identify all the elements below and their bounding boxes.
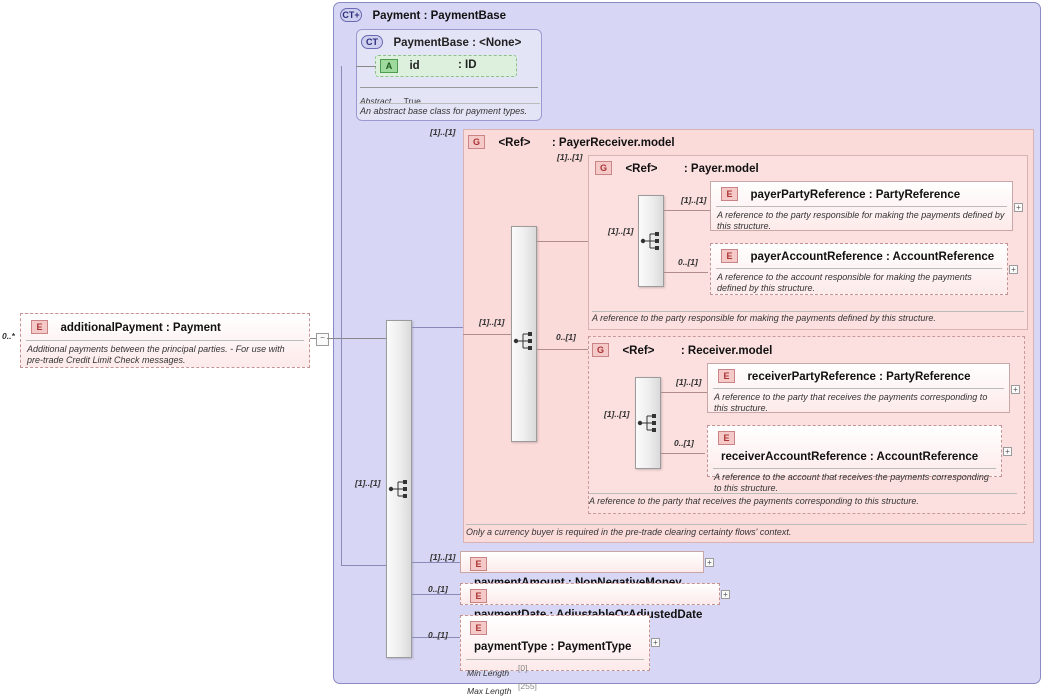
group-ref-label: <Ref> — [622, 345, 654, 357]
facet-key: Max Length — [467, 686, 511, 696]
receiver-group-doc: A reference to the party that receives t… — [589, 496, 1021, 507]
element-title: payerAccountReference : AccountReference — [750, 251, 994, 263]
element-icon: E — [718, 369, 735, 383]
element-paymentamount[interactable]: E paymentAmount : NonNegativeMoney — [460, 551, 704, 573]
attribute-id-box[interactable]: A id : ID — [375, 55, 517, 77]
sequence-icon — [388, 479, 412, 499]
element-receiverpartyreference[interactable]: E receiverPartyReference : PartyReferenc… — [707, 363, 1010, 413]
element-doc: A reference to the party responsible for… — [717, 210, 1006, 232]
connector — [664, 272, 708, 273]
connector — [537, 241, 588, 242]
multiplicity-label: [1]..[1] — [604, 409, 630, 419]
multiplicity-label: 0..[1] — [428, 584, 448, 594]
element-icon: E — [721, 187, 738, 201]
group-icon: G — [592, 343, 609, 357]
multiplicity-label: [1]..[1] — [676, 377, 702, 387]
root-type-title: Payment : PaymentBase — [372, 10, 506, 22]
element-icon: E — [721, 249, 738, 263]
group-title: : Receiver.model — [681, 345, 772, 357]
facet-value: [0] — [518, 663, 527, 673]
multiplicity-label: [1]..[1] — [355, 478, 381, 488]
multiplicity-label: [1]..[1] — [681, 195, 707, 205]
payerreceiver-group-doc: Only a currency buyer is required in the… — [466, 527, 1031, 538]
connector — [412, 562, 460, 563]
sequence-icon — [513, 331, 537, 351]
divider — [466, 524, 1027, 525]
expand-button[interactable]: + — [1014, 203, 1023, 212]
attribute-connector — [356, 66, 376, 67]
multiplicity-label: 0..[1] — [678, 257, 698, 267]
facet-value: [255] — [518, 681, 537, 691]
element-payeraccountreference[interactable]: E payerAccountReference : AccountReferen… — [710, 243, 1008, 295]
element-title: paymentType : PaymentType — [474, 641, 631, 653]
connector — [412, 327, 463, 328]
expand-button[interactable]: + — [1011, 385, 1020, 394]
sequence-icon — [640, 231, 664, 251]
multiplicity-label: 0..[1] — [674, 438, 694, 448]
multiplicity-label: [1]..[1] — [557, 152, 583, 162]
receiver-header: G <Ref> : Receiver.model — [592, 341, 772, 359]
element-doc: A reference to the account that receives… — [714, 472, 995, 494]
group-ref-label: <Ref> — [498, 137, 530, 149]
facet-row: Max Length [255] — [467, 681, 643, 699]
element-icon: E — [470, 557, 487, 571]
payer-header: G <Ref> : Payer.model — [595, 159, 759, 177]
multiplicity-label: [1]..[1] — [430, 127, 456, 137]
complextype-icon: CT+ — [340, 8, 362, 22]
connector — [463, 334, 511, 335]
connector — [661, 453, 705, 454]
element-icon: E — [470, 621, 487, 635]
element-title: payerPartyReference : PartyReference — [750, 189, 960, 201]
attribute-type: : ID — [458, 59, 477, 71]
divider — [360, 87, 538, 88]
connector — [327, 338, 387, 339]
multiplicity-label: [1]..[1] — [608, 226, 634, 236]
facet-value: True — [404, 96, 421, 106]
payerreceiver-header: G <Ref> : PayerReceiver.model — [468, 133, 675, 151]
element-icon: E — [31, 320, 48, 334]
root-type-header: CT+ Payment : PaymentBase — [340, 6, 506, 24]
sequence-icon — [637, 413, 661, 433]
element-title: receiverAccountReference : AccountRefere… — [721, 451, 978, 463]
attribute-icon: A — [380, 59, 398, 73]
expand-button[interactable]: + — [1009, 265, 1018, 274]
element-title: receiverPartyReference : PartyReference — [747, 371, 970, 383]
element-paymenttype[interactable]: E paymentType : PaymentType Min Length [… — [460, 615, 650, 671]
paymentbase-title: PaymentBase : <None> — [393, 37, 521, 49]
element-title: additionalPayment : Payment — [60, 322, 220, 334]
group-icon: G — [468, 135, 485, 149]
complextype-icon: CT — [361, 35, 383, 49]
paymentbase-header: CT PaymentBase : <None> — [361, 33, 521, 51]
element-payerpartyreference[interactable]: E payerPartyReference : PartyReference A… — [710, 181, 1013, 231]
multiplicity-label: 0..[1] — [428, 630, 448, 640]
connector — [664, 210, 710, 211]
expand-button[interactable]: + — [1003, 447, 1012, 456]
group-title: : PayerReceiver.model — [552, 137, 675, 149]
element-receiveraccountreference[interactable]: E receiverAccountReference : AccountRefe… — [707, 425, 1002, 477]
element-doc: A reference to the party that receives t… — [714, 392, 1003, 414]
element-doc: Additional payments between the principa… — [27, 344, 303, 366]
multiplicity-label: [1]..[1] — [430, 552, 456, 562]
facet-key: Min Length — [467, 668, 509, 678]
expand-button[interactable]: + — [651, 638, 660, 647]
connector — [537, 349, 588, 350]
collapse-minus-box[interactable]: − — [316, 333, 329, 346]
group-ref-label: <Ref> — [625, 163, 657, 175]
multiplicity-label: 0..* — [2, 331, 15, 341]
facet-row: Min Length [0] — [467, 663, 643, 681]
payer-group-doc: A reference to the party responsible for… — [592, 313, 1027, 324]
element-icon: E — [470, 589, 487, 603]
connector — [412, 594, 460, 595]
divider — [592, 311, 1024, 312]
expand-button[interactable]: + — [721, 590, 730, 599]
element-doc: A reference to the account responsible f… — [717, 272, 1001, 294]
element-additionalpayment[interactable]: E additionalPayment : Payment Additional… — [20, 313, 310, 368]
multiplicity-label: 0..[1] — [556, 332, 576, 342]
connector — [661, 392, 707, 393]
divider — [589, 493, 1017, 494]
divider — [360, 103, 540, 104]
element-paymentdate[interactable]: E paymentDate : AdjustableOrAdjustedDate — [460, 583, 720, 605]
facet-key: Abstract — [360, 96, 391, 106]
group-icon: G — [595, 161, 612, 175]
attribute-name: id — [409, 60, 419, 72]
element-icon: E — [718, 431, 735, 445]
expand-button[interactable]: + — [705, 558, 714, 567]
group-title: : Payer.model — [684, 163, 759, 175]
paymentbase-doc: An abstract base class for payment types… — [360, 106, 542, 117]
root-seq-connector — [341, 565, 387, 566]
root-inheritance-line — [341, 66, 342, 565]
multiplicity-label: [1]..[1] — [479, 317, 505, 327]
